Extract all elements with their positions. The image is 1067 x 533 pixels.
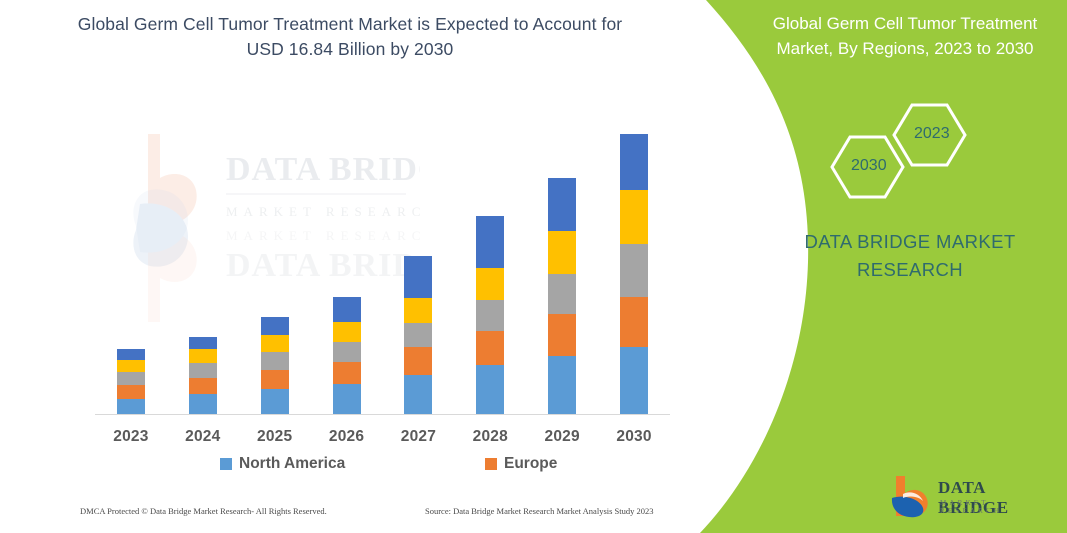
bar-segment-2023-series-5[interactable]: [117, 349, 145, 361]
bar-stack-2029[interactable]: [548, 178, 576, 414]
brand-line-1: DATA BRIDGE MARKET: [790, 228, 1030, 256]
bar-segment-2027-series-5[interactable]: [404, 256, 432, 298]
bar-segment-2029-north-america[interactable]: [548, 356, 576, 414]
plot-area: [95, 120, 670, 415]
footer-copyright: DMCA Protected © Data Bridge Market Rese…: [80, 506, 327, 516]
bar-segment-2024-series-3[interactable]: [189, 363, 217, 378]
x-axis-label-2030: 2030: [599, 428, 669, 446]
bar-segment-2028-north-america[interactable]: [476, 365, 504, 414]
legend-label: North America: [239, 455, 345, 473]
bar-segment-2027-europe[interactable]: [404, 347, 432, 375]
infographic-root: Global Germ Cell Tumor Treatment Market …: [0, 0, 1067, 533]
bar-segment-2026-series-5[interactable]: [333, 297, 361, 322]
bar-segment-2023-series-3[interactable]: [117, 372, 145, 385]
hexagon-group: 2023 2030: [820, 95, 1000, 205]
chart-panel: Global Germ Cell Tumor Treatment Market …: [0, 0, 700, 533]
bar-segment-2023-europe[interactable]: [117, 385, 145, 399]
bar-segment-2026-series-4[interactable]: [333, 322, 361, 342]
bar-segment-2028-europe[interactable]: [476, 331, 504, 366]
data-bridge-logo: DATA BRIDGE MARKET RESEARCH: [890, 474, 1050, 520]
bar-stack-2024[interactable]: [189, 337, 217, 414]
bar-segment-2024-europe[interactable]: [189, 378, 217, 394]
bar-segment-2025-series-3[interactable]: [261, 352, 289, 370]
bar-segment-2029-series-4[interactable]: [548, 231, 576, 274]
bar-segment-2030-north-america[interactable]: [620, 347, 648, 414]
bar-segment-2028-series-4[interactable]: [476, 268, 504, 300]
bar-segment-2029-series-3[interactable]: [548, 274, 576, 314]
bar-segment-2024-north-america[interactable]: [189, 394, 217, 414]
bar-segment-2030-europe[interactable]: [620, 297, 648, 348]
bar-segment-2025-series-4[interactable]: [261, 335, 289, 353]
bar-stack-2027[interactable]: [404, 256, 432, 414]
footer-source: Source: Data Bridge Market Research Mark…: [425, 506, 654, 516]
legend-swatch-icon: [485, 458, 497, 470]
bar-stack-2030[interactable]: [620, 134, 648, 414]
legend-label: Europe: [504, 455, 557, 473]
x-axis-label-2024: 2024: [168, 428, 238, 446]
logo-mark-icon: [890, 474, 936, 518]
x-axis-label-2026: 2026: [312, 428, 382, 446]
bar-segment-2029-europe[interactable]: [548, 314, 576, 357]
bar-stack-2023[interactable]: [117, 349, 145, 415]
bar-segment-2024-series-5[interactable]: [189, 337, 217, 349]
legend-item-north-america[interactable]: North America: [220, 455, 345, 473]
bar-segment-2027-series-4[interactable]: [404, 298, 432, 323]
x-axis-label-2029: 2029: [527, 428, 597, 446]
hexagon-2030-label: 2030: [851, 157, 887, 175]
x-axis-line: [95, 414, 670, 415]
bar-segment-2023-north-america[interactable]: [117, 399, 145, 414]
x-axis-label-2028: 2028: [455, 428, 525, 446]
bar-segment-2027-north-america[interactable]: [404, 375, 432, 414]
footer: DMCA Protected © Data Bridge Market Rese…: [80, 506, 680, 526]
bar-segment-2025-north-america[interactable]: [261, 389, 289, 414]
page-title: Global Germ Cell Tumor Treatment Market …: [60, 12, 640, 62]
bar-stack-2026[interactable]: [333, 297, 361, 414]
bar-segment-2028-series-3[interactable]: [476, 300, 504, 331]
chart-legend: North AmericaEurope: [95, 455, 670, 479]
right-panel-title: Global Germ Cell Tumor Treatment Market,…: [755, 12, 1055, 61]
bar-stack-2025[interactable]: [261, 317, 289, 414]
bar-segment-2030-series-5[interactable]: [620, 134, 648, 190]
legend-item-europe[interactable]: Europe: [485, 455, 557, 473]
x-axis-label-2025: 2025: [240, 428, 310, 446]
bar-segment-2026-europe[interactable]: [333, 362, 361, 384]
bar-segment-2030-series-4[interactable]: [620, 190, 648, 245]
bar-segment-2023-series-4[interactable]: [117, 360, 145, 372]
hexagon-2023-label: 2023: [914, 125, 950, 143]
logo-subline: MARKET RESEARCH: [940, 499, 1050, 515]
bar-stack-2028[interactable]: [476, 216, 504, 414]
bar-segment-2026-north-america[interactable]: [333, 384, 361, 414]
bar-segment-2029-series-5[interactable]: [548, 178, 576, 232]
bar-segment-2025-europe[interactable]: [261, 370, 289, 389]
x-axis-labels: 20232024202520262027202820292030: [95, 428, 670, 454]
legend-swatch-icon: [220, 458, 232, 470]
x-axis-label-2023: 2023: [96, 428, 166, 446]
bar-segment-2030-series-3[interactable]: [620, 244, 648, 297]
x-axis-label-2027: 2027: [383, 428, 453, 446]
bar-segment-2027-series-3[interactable]: [404, 323, 432, 348]
bar-segment-2028-series-5[interactable]: [476, 216, 504, 268]
brand-name: DATA BRIDGE MARKET RESEARCH: [790, 228, 1030, 284]
bar-segment-2024-series-4[interactable]: [189, 349, 217, 364]
brand-line-2: RESEARCH: [790, 256, 1030, 284]
bar-segment-2026-series-3[interactable]: [333, 342, 361, 363]
bar-segment-2025-series-5[interactable]: [261, 317, 289, 335]
